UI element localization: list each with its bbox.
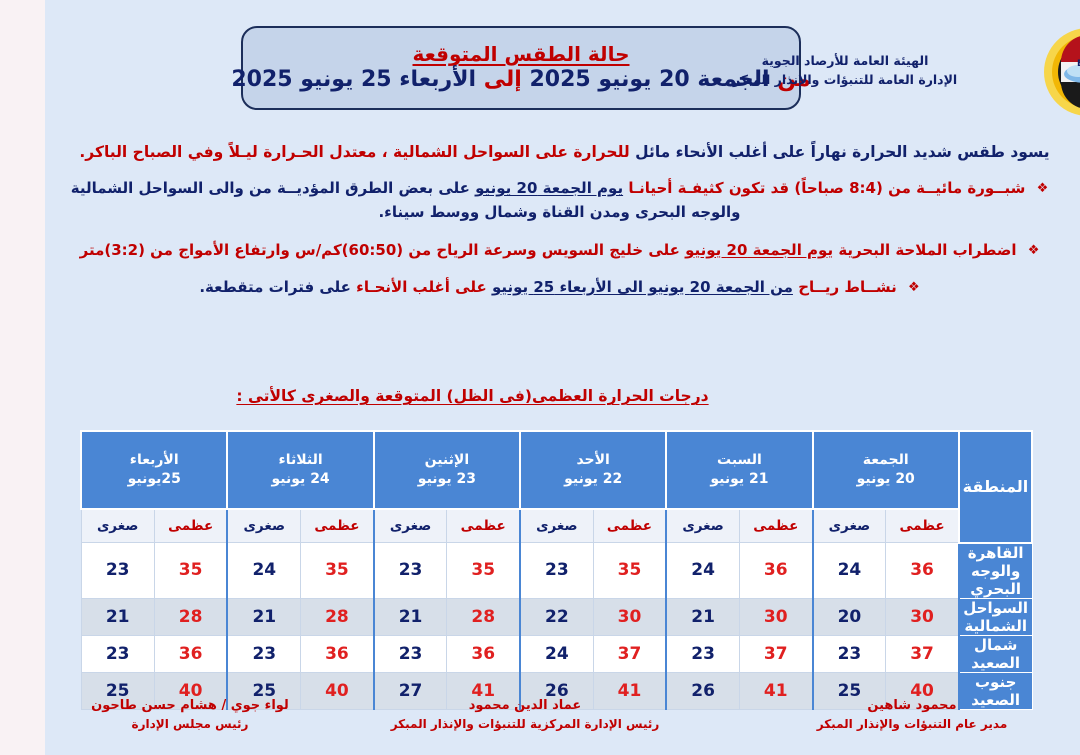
min-temp-cell: 23 (81, 635, 154, 672)
region-cell: شمال الصعيد (959, 635, 1032, 672)
signature-forecast-director: محمود شاهين مدير عام التنبؤات والإنذار ا… (762, 697, 1062, 733)
bullet-item-marine: ❖ اضطراب الملاحة البحرية يوم الجمعة 20 ي… (45, 238, 1080, 262)
max-temp-cell: 35 (593, 543, 666, 599)
column-header-day-2: الأحد 22 يونيو (520, 431, 666, 509)
column-header-day-4: الثلاثاء 24 يونيو (227, 431, 373, 509)
max-temp-cell: 30 (886, 598, 959, 635)
min-temp-cell: 21 (81, 598, 154, 635)
signature-name-1: محمود شاهين (762, 697, 1062, 716)
subheader-min-0: صغرى (813, 509, 886, 543)
wind-segment-1: نشــاط ريــاح (798, 278, 897, 296)
subheader-min-3: صغرى (374, 509, 447, 543)
table-header-minmax: عظمى صغرى عظمى صغرى عظمى صغرى عظمى صغرى … (81, 509, 1032, 543)
date-range-connector: إلى (484, 67, 522, 92)
temperature-table-caption: درجات الحرارة العظمى(فى الظل) المتوقعة و… (45, 386, 1080, 405)
column-header-day-3: الإثنين 23 يونيو (374, 431, 520, 509)
subheader-max-5: عظمى (154, 509, 227, 543)
max-temp-cell: 35 (447, 543, 520, 599)
fog-segment-1: شبــورة مائيــة من (8:4 صباحاً) قد تكون … (628, 179, 1025, 197)
subheader-max-0: عظمى (886, 509, 959, 543)
marine-segment-1: اضطراب الملاحة البحرية (838, 241, 1016, 259)
max-temp-cell: 28 (154, 598, 227, 635)
max-temp-cell: 36 (886, 543, 959, 599)
min-temp-cell: 23 (520, 543, 593, 599)
subheader-min-5: صغرى (81, 509, 154, 543)
day-name-1: السبت (667, 451, 811, 470)
page-title: حالة الطقس المتوقعة (413, 43, 630, 65)
subheader-max-1: عظمى (739, 509, 812, 543)
max-temp-cell: 30 (593, 598, 666, 635)
table-row: شمال الصعيد372337233724362336233623 (81, 635, 1032, 672)
max-temp-cell: 36 (154, 635, 227, 672)
subheader-min-2: صغرى (520, 509, 593, 543)
day-date-4: 24 يونيو (228, 470, 372, 489)
day-date-3: 23 يونيو (375, 470, 519, 489)
column-header-day-5: الأربعاء 25يونيو (81, 431, 227, 509)
day-date-1: 21 يونيو (667, 470, 811, 489)
wind-segment-3: على أغلب الأنحـاء (356, 278, 487, 296)
subheader-min-4: صغرى (227, 509, 300, 543)
temperature-table-body: القاهرة والوجه البحري3624362435233523352… (81, 543, 1032, 710)
day-name-3: الإثنين (375, 451, 519, 470)
min-temp-cell: 24 (666, 543, 739, 599)
organization-name: الهيئة العامة للأرصاد الجوية الإدارة الع… (720, 52, 970, 90)
document-footer: محمود شاهين مدير عام التنبؤات والإنذار ا… (45, 695, 1080, 743)
region-cell: السواحل الشمالية (959, 598, 1032, 635)
min-temp-cell: 23 (374, 635, 447, 672)
wind-segment-4: على فترات متقطعة. (199, 278, 351, 296)
day-name-5: الأربعاء (82, 451, 226, 470)
bullet-marker-icon: ❖ (1037, 178, 1049, 199)
bullet-marker-icon: ❖ (908, 277, 920, 298)
day-date-2: 22 يونيو (521, 470, 665, 489)
day-date-5: 25يونيو (82, 470, 226, 489)
min-temp-cell: 20 (813, 598, 886, 635)
document-page: EMA حالة الطقس المتوقعة من الجمعة 20 يون… (45, 0, 1080, 755)
signature-name-2: عماد الدين محمود (375, 697, 675, 716)
forecast-bullet-list: ❖ شبــورة مائيــة من (8:4 صباحاً) قد تكو… (45, 176, 1080, 299)
min-temp-cell: 21 (666, 598, 739, 635)
signature-central-director: عماد الدين محمود رئيس الإدارة المركزية ل… (375, 697, 675, 733)
day-name-0: الجمعة (814, 451, 958, 470)
date-range-end: الأربعاء 25 يونيو 2025 (231, 67, 476, 92)
region-cell: القاهرة والوجه البحري (959, 543, 1032, 599)
max-temp-cell: 35 (154, 543, 227, 599)
day-name-4: الثلاثاء (228, 451, 372, 470)
subheader-max-4: عظمى (301, 509, 374, 543)
day-date-0: 20 يونيو (814, 470, 958, 489)
max-temp-cell: 28 (447, 598, 520, 635)
marine-segment-3: على خليج السويس وسرعة الرياح من (60:50)ك… (80, 241, 680, 259)
intro-paragraph: يسود طقس شديد الحرارة نهاراً على أغلب ال… (45, 140, 1080, 164)
max-temp-cell: 37 (886, 635, 959, 672)
min-temp-cell: 23 (813, 635, 886, 672)
min-temp-cell: 21 (227, 598, 300, 635)
table-row: القاهرة والوجه البحري3624362435233523352… (81, 543, 1032, 599)
min-temp-cell: 24 (520, 635, 593, 672)
bullet-item-fog: ❖ شبــورة مائيــة من (8:4 صباحاً) قد تكو… (45, 176, 1080, 225)
min-temp-cell: 23 (666, 635, 739, 672)
column-header-day-0: الجمعة 20 يونيو (813, 431, 959, 509)
forecast-title-box: حالة الطقس المتوقعة من الجمعة 20 يونيو 2… (241, 26, 801, 110)
max-temp-cell: 28 (301, 598, 374, 635)
min-temp-cell: 24 (227, 543, 300, 599)
day-name-2: الأحد (521, 451, 665, 470)
organization-line-2: الإدارة العامة للتنبؤات والإنذار المبكر (720, 71, 970, 90)
temperature-table: المنطقة الجمعة 20 يونيو السبت 21 يونيو ا… (80, 430, 1033, 710)
intro-segment-2: للحرارة على السواحل الشمالية ، معتدل الح… (79, 143, 629, 161)
min-temp-cell: 21 (374, 598, 447, 635)
wind-segment-range: من الجمعة 20 يونيو الى الأربعاء 25 يونيو (492, 278, 793, 296)
max-temp-cell: 36 (447, 635, 520, 672)
max-temp-cell: 37 (593, 635, 666, 672)
min-temp-cell: 24 (813, 543, 886, 599)
subheader-min-1: صغرى (666, 509, 739, 543)
min-temp-cell: 23 (227, 635, 300, 672)
table-header-days: المنطقة الجمعة 20 يونيو السبت 21 يونيو ا… (81, 431, 1032, 509)
subheader-max-3: عظمى (447, 509, 520, 543)
document-header: EMA حالة الطقس المتوقعة من الجمعة 20 يون… (45, 0, 1080, 122)
max-temp-cell: 36 (739, 543, 812, 599)
signature-role-2: رئيس الإدارة المركزية للتنبؤات والإنذار … (375, 716, 675, 733)
column-header-region: المنطقة (959, 431, 1032, 543)
table-row: السواحل الشمالية302030213022282128212821 (81, 598, 1032, 635)
organization-line-1: الهيئة العامة للأرصاد الجوية (720, 52, 970, 71)
bullet-item-wind: ❖ نشــاط ريــاح من الجمعة 20 يونيو الى ا… (45, 275, 1080, 299)
fog-segment-day: يوم الجمعة 20 يونيو (475, 179, 623, 197)
signature-role-1: مدير عام التنبؤات والإنذار المبكر (762, 716, 1062, 733)
signature-chairman: لواء جوي / هشام حسن طاحون رئيس مجلس الإد… (55, 697, 325, 733)
ema-logo: EMA (1040, 26, 1080, 118)
max-temp-cell: 30 (739, 598, 812, 635)
marine-segment-day: يوم الجمعة 20 يونيو (685, 241, 833, 259)
max-temp-cell: 36 (301, 635, 374, 672)
signature-role-3: رئيس مجلس الإدارة (55, 716, 325, 733)
column-header-day-1: السبت 21 يونيو (666, 431, 812, 509)
forecast-summary: يسود طقس شديد الحرارة نهاراً على أغلب ال… (45, 126, 1080, 312)
max-temp-cell: 37 (739, 635, 812, 672)
min-temp-cell: 23 (81, 543, 154, 599)
min-temp-cell: 22 (520, 598, 593, 635)
intro-segment-1: يسود طقس شديد الحرارة نهاراً على أغلب ال… (635, 143, 1049, 161)
temperature-table-caption-text: درجات الحرارة العظمى(فى الظل) المتوقعة و… (236, 387, 708, 405)
subheader-max-2: عظمى (593, 509, 666, 543)
bullet-marker-icon: ❖ (1028, 240, 1040, 261)
min-temp-cell: 23 (374, 543, 447, 599)
signature-name-3: لواء جوي / هشام حسن طاحون (55, 697, 325, 716)
max-temp-cell: 35 (301, 543, 374, 599)
